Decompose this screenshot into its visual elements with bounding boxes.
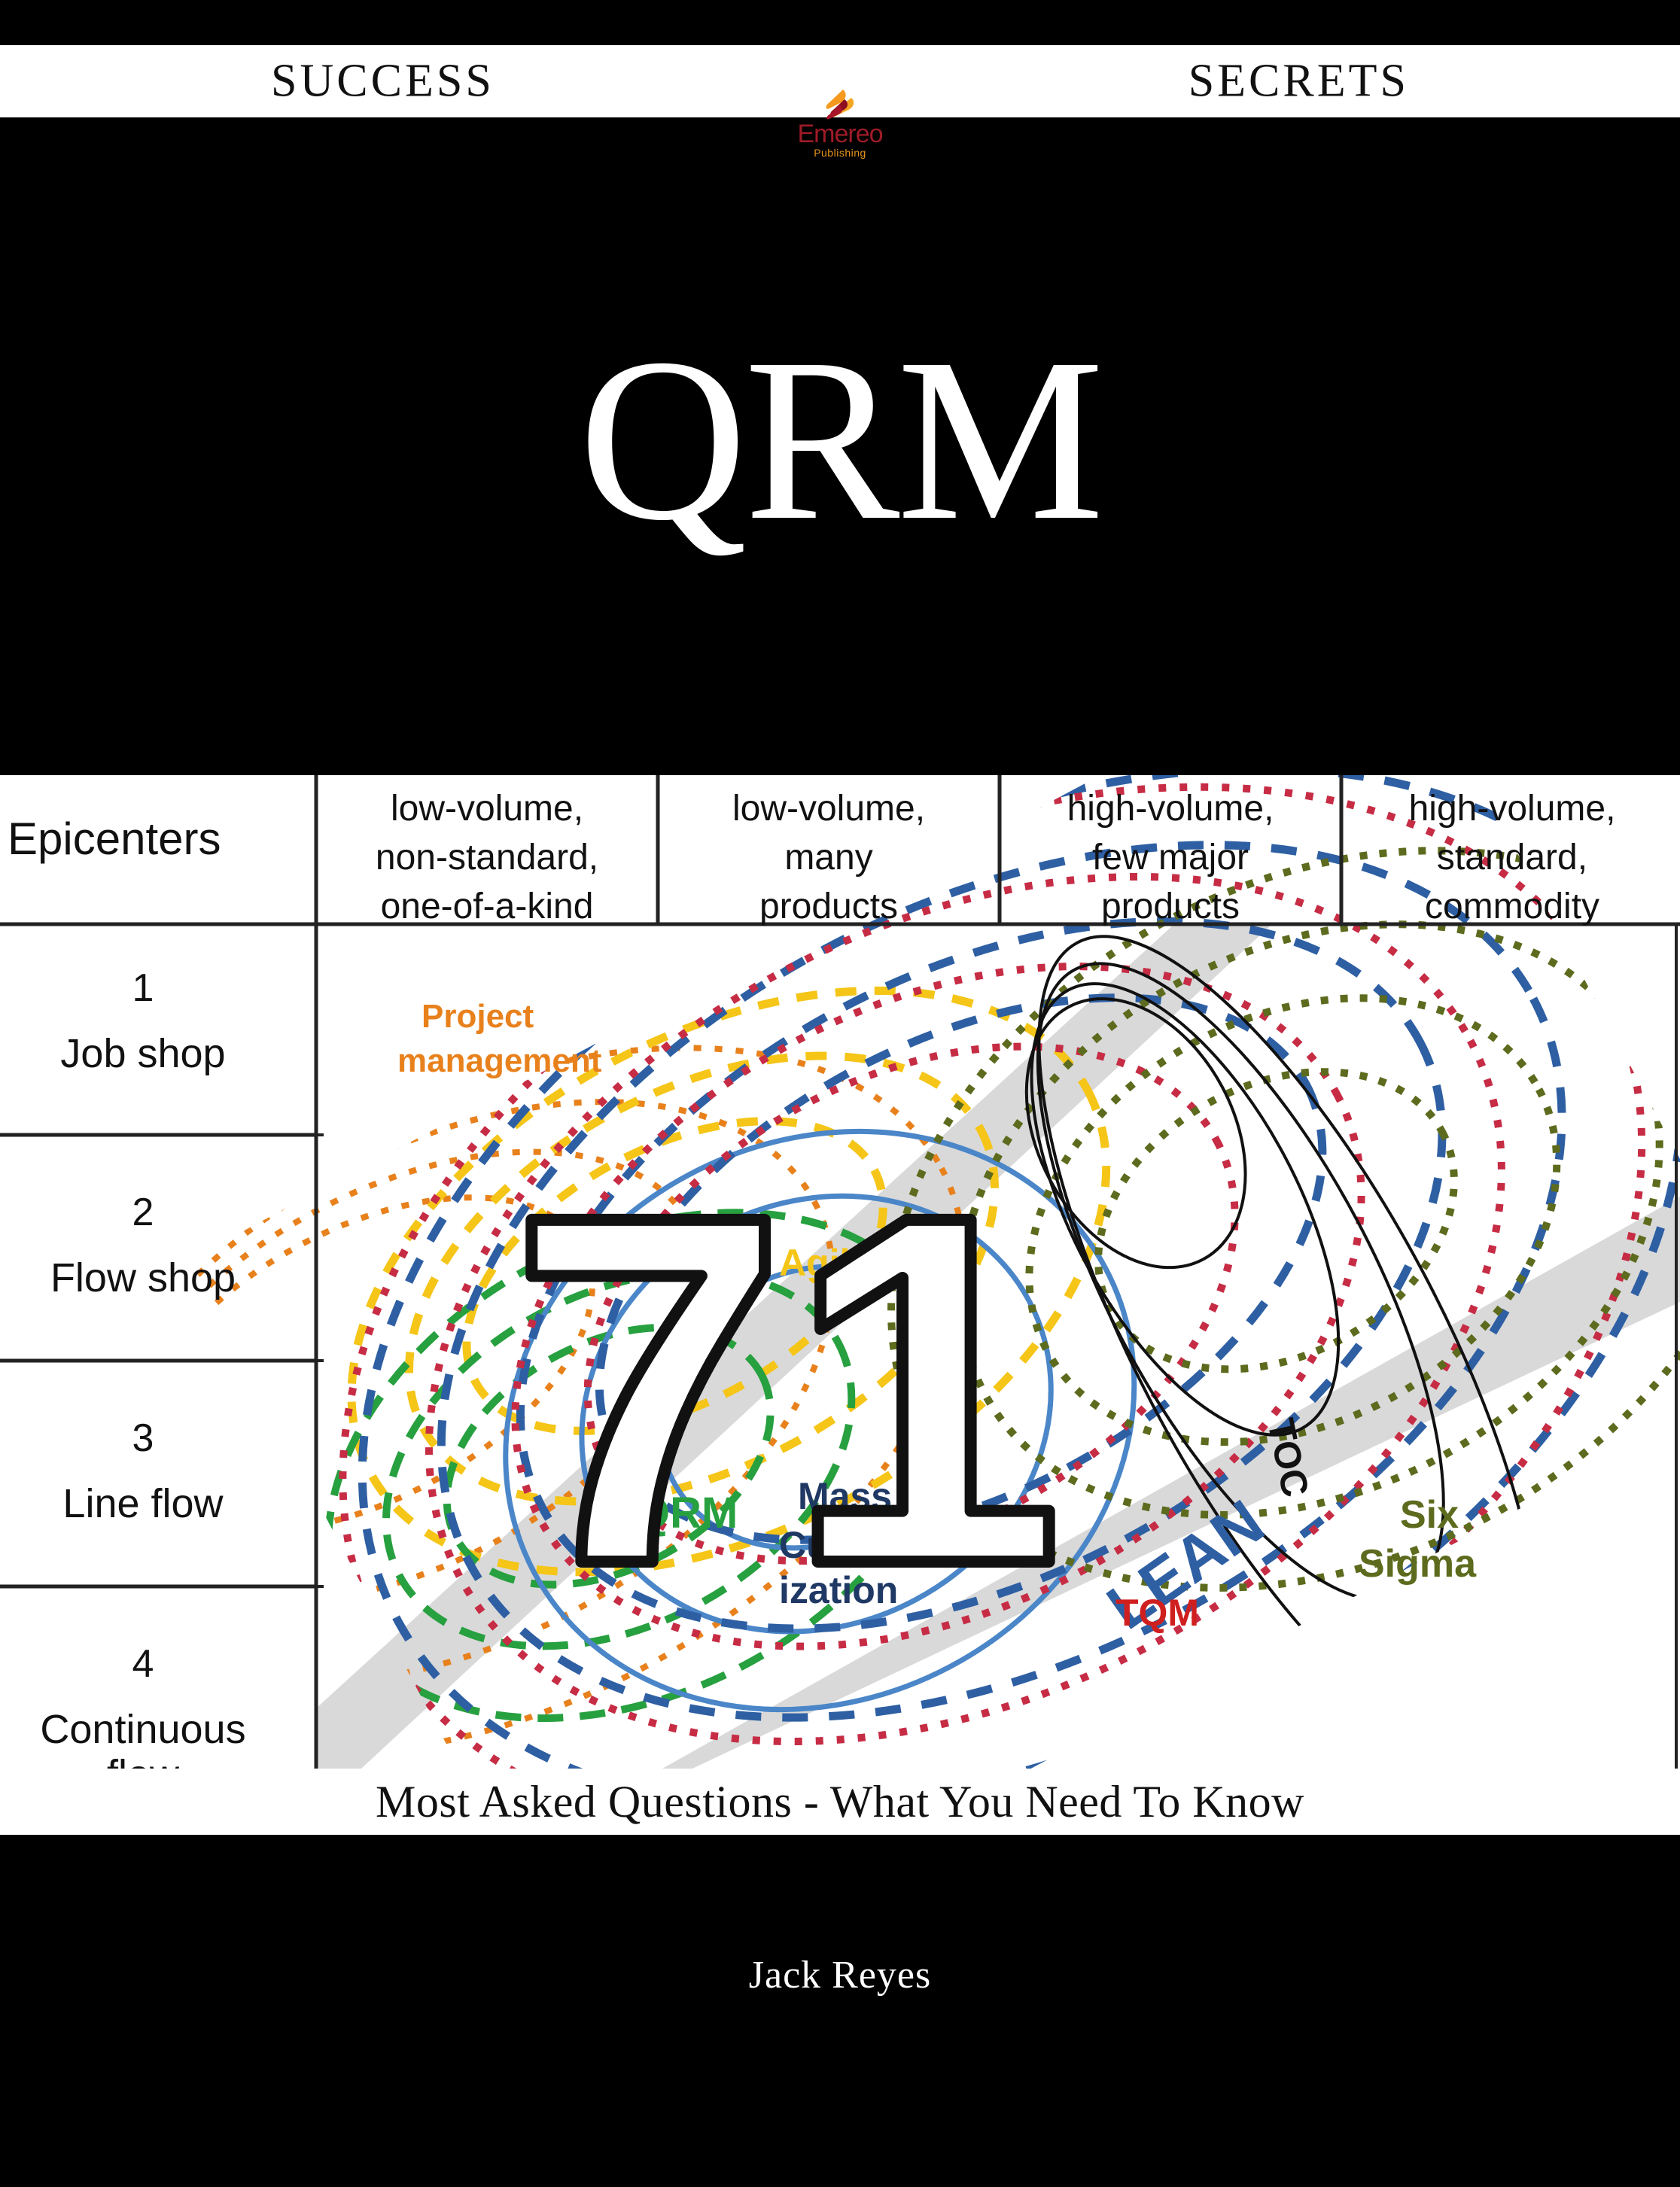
cover-artwork: Project management Agile QRM Mass Custom… — [0, 775, 1680, 1769]
matrix-row-2-label: Flow shop — [50, 1255, 236, 1300]
matrix-col-4-line1: high-volume, — [1409, 789, 1616, 829]
matrix-col-2-line3: products — [759, 887, 898, 926]
header-banner: SUCCESS Emereo Publishing SECRETS — [0, 45, 1680, 117]
ellipse-label-tqm: TQM — [1115, 1592, 1199, 1634]
matrix-col-4-line2: standard, — [1437, 838, 1587, 878]
publisher-tagline: Publishing — [814, 147, 866, 159]
matrix-col-4-line3: commodity — [1425, 887, 1599, 926]
matrix-col-3-line3: products — [1101, 887, 1240, 926]
author-name: Jack Reyes — [0, 1953, 1680, 1997]
matrix-row-3-number: 3 — [132, 1416, 154, 1460]
matrix-col-1-line2: non-standard, — [376, 838, 598, 878]
matrix-col-2-line2: many — [784, 838, 872, 878]
ellipse-label-six-sigma-1: Six — [1400, 1493, 1459, 1537]
matrix-row-1-number: 1 — [132, 966, 154, 1010]
publisher-name: Emereo — [797, 122, 882, 146]
page-title: QRM — [0, 324, 1680, 557]
matrix-row-1-label: Job shop — [60, 1031, 225, 1076]
matrix-col-2-line1: low-volume, — [732, 789, 925, 829]
ellipse-label-project-management: Project — [422, 998, 534, 1035]
book-cover: SUCCESS Emereo Publishing SECRETS QRM — [0, 0, 1680, 2187]
matrix-row-3-label: Line flow — [62, 1481, 224, 1526]
badge-number-text: 71 — [510, 1112, 1063, 1667]
publisher-logo: Emereo Publishing — [765, 89, 915, 164]
matrix-corner-label: Epicenters — [8, 814, 221, 864]
ellipse-label-project-management-2: management — [397, 1042, 602, 1079]
banner-word-success: SUCCESS — [271, 55, 495, 108]
flame-swirl-icon — [810, 89, 870, 123]
matrix-col-1-line1: low-volume, — [391, 789, 583, 829]
subtitle-band: Most Asked Questions - What You Need To … — [0, 1769, 1680, 1835]
matrix-col-3-line2: few major — [1092, 838, 1249, 878]
ellipse-label-six-sigma-2: Sigma — [1359, 1542, 1477, 1586]
matrix-row-2-number: 2 — [132, 1191, 154, 1234]
badge-number: 71 — [510, 1112, 1063, 1667]
matrix-row-4-label-line2: flow — [107, 1752, 180, 1769]
subtitle-text: Most Asked Questions - What You Need To … — [376, 1776, 1304, 1828]
matrix-col-1-line3: one-of-a-kind — [381, 887, 594, 926]
matrix-row-4-number: 4 — [132, 1642, 154, 1686]
banner-word-secrets: SECRETS — [1188, 55, 1409, 108]
matrix-col-3-line1: high-volume, — [1067, 789, 1274, 829]
matrix-row-4-label-line1: Continuous — [40, 1707, 245, 1752]
